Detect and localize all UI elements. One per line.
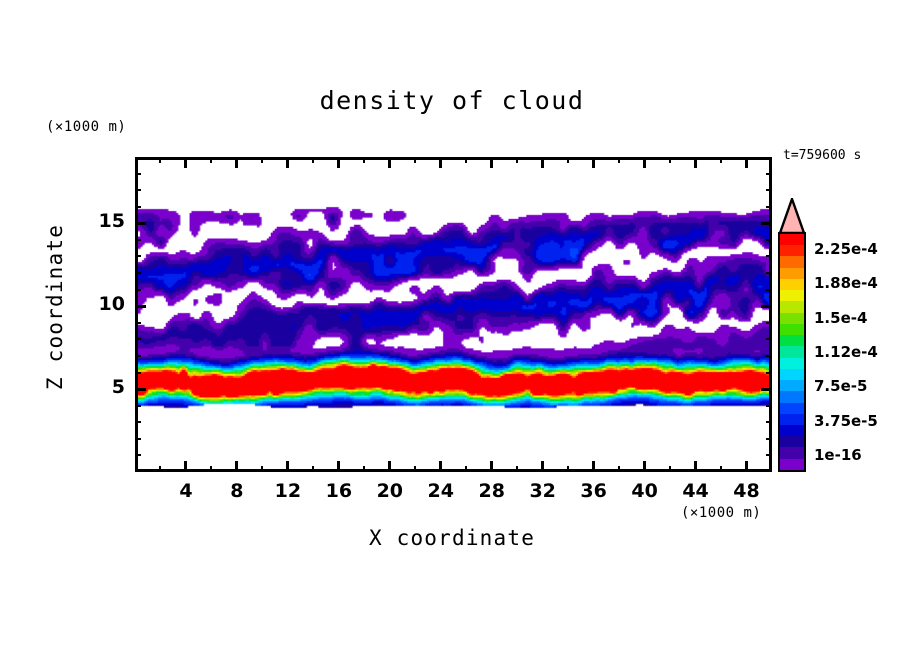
- y-minor-tick: [135, 405, 141, 407]
- x-major-tick-top: [541, 157, 544, 168]
- x-tick-label: 24: [421, 480, 461, 502]
- colorbar-band: [780, 358, 804, 369]
- x-tick-label: 20: [370, 480, 410, 502]
- x-tick-label: 12: [268, 480, 308, 502]
- colorbar-band: [780, 256, 804, 267]
- x-minor-tick: [210, 466, 212, 472]
- x-major-tick-top: [643, 157, 646, 168]
- figure-canvas: density of cloud (×1000 m) t=759600 s 48…: [0, 0, 904, 654]
- colorbar-band: [780, 324, 804, 335]
- x-minor-tick-top: [159, 157, 161, 163]
- y-minor-tick: [135, 355, 141, 357]
- y-minor-tick: [135, 239, 141, 241]
- y-tick-label: 10: [85, 293, 125, 315]
- y-minor-tick-right: [766, 454, 772, 456]
- x-tick-label: 8: [217, 480, 257, 502]
- y-minor-tick-right: [766, 405, 772, 407]
- colorbar-tick-label: 1.88e-4: [814, 274, 878, 292]
- x-minor-tick-top: [567, 157, 569, 163]
- y-axis-label: Z coordinate: [43, 207, 67, 407]
- x-major-tick-top: [235, 157, 238, 168]
- y-major-tick-right: [761, 222, 772, 225]
- x-minor-tick: [669, 466, 671, 472]
- colorbar-band: [780, 369, 804, 380]
- y-minor-tick-right: [766, 372, 772, 374]
- x-minor-tick: [414, 466, 416, 472]
- y-major-tick: [135, 222, 146, 225]
- x-tick-label: 44: [676, 480, 716, 502]
- x-major-tick-top: [439, 157, 442, 168]
- x-major-tick: [541, 461, 544, 472]
- x-minor-tick-top: [516, 157, 518, 163]
- colorbar-band: [780, 279, 804, 290]
- x-major-tick-top: [388, 157, 391, 168]
- x-minor-tick-top: [720, 157, 722, 163]
- x-minor-tick-top: [414, 157, 416, 163]
- y-major-tick: [135, 388, 146, 391]
- colorbar-band: [780, 414, 804, 425]
- colorbar-tick-label: 1e-16: [814, 446, 862, 464]
- x-major-tick: [694, 461, 697, 472]
- colorbar-extend-arrow: [778, 198, 806, 234]
- x-minor-tick: [618, 466, 620, 472]
- x-minor-tick: [363, 466, 365, 472]
- y-major-tick-right: [761, 305, 772, 308]
- y-minor-tick-right: [766, 421, 772, 423]
- y-minor-tick-right: [766, 255, 772, 257]
- x-axis-unit-label: (×1000 m): [681, 505, 761, 521]
- y-minor-tick: [135, 206, 141, 208]
- colorbar-bands: [778, 232, 806, 472]
- y-minor-tick-right: [766, 338, 772, 340]
- x-minor-tick-top: [669, 157, 671, 163]
- y-minor-tick: [135, 338, 141, 340]
- chart-title: density of cloud: [0, 86, 904, 115]
- x-minor-tick: [159, 466, 161, 472]
- x-major-tick: [745, 461, 748, 472]
- y-minor-tick-right: [766, 355, 772, 357]
- z-axis-unit-label: (×1000 m): [46, 119, 126, 135]
- x-minor-tick-top: [618, 157, 620, 163]
- x-major-tick-top: [184, 157, 187, 168]
- x-tick-label: 28: [472, 480, 512, 502]
- colorbar-band: [780, 447, 804, 458]
- colorbar-tick-label: 1.5e-4: [814, 309, 867, 327]
- y-minor-tick-right: [766, 239, 772, 241]
- colorbar-band: [780, 380, 804, 391]
- y-minor-tick-right: [766, 189, 772, 191]
- x-minor-tick: [312, 466, 314, 472]
- y-minor-tick: [135, 272, 141, 274]
- colorbar-band: [780, 403, 804, 414]
- x-minor-tick-top: [465, 157, 467, 163]
- y-minor-tick: [135, 189, 141, 191]
- x-major-tick: [490, 461, 493, 472]
- x-minor-tick: [516, 466, 518, 472]
- colorbar-band: [780, 268, 804, 279]
- colorbar-band: [780, 290, 804, 301]
- x-tick-label: 36: [574, 480, 614, 502]
- plot-area: [135, 157, 772, 472]
- colorbar-band: [780, 301, 804, 312]
- time-annotation: t=759600 s: [783, 148, 861, 163]
- x-axis-label: X coordinate: [0, 526, 904, 550]
- y-minor-tick-right: [766, 272, 772, 274]
- x-major-tick-top: [490, 157, 493, 168]
- colorbar-band: [780, 346, 804, 357]
- x-minor-tick: [567, 466, 569, 472]
- colorbar-tick-label: 7.5e-5: [814, 377, 867, 395]
- colorbar-tick-label: 1.12e-4: [814, 343, 878, 361]
- y-minor-tick: [135, 421, 141, 423]
- colorbar-tick-label: 2.25e-4: [814, 240, 878, 258]
- y-tick-label: 15: [85, 210, 125, 232]
- x-tick-label: 4: [166, 480, 206, 502]
- x-tick-label: 32: [523, 480, 563, 502]
- colorbar-band: [780, 335, 804, 346]
- y-minor-tick-right: [766, 438, 772, 440]
- x-minor-tick: [261, 466, 263, 472]
- y-minor-tick-right: [766, 206, 772, 208]
- x-minor-tick-top: [363, 157, 365, 163]
- contour-field: [138, 160, 769, 469]
- colorbar-band: [780, 425, 804, 436]
- y-minor-tick: [135, 322, 141, 324]
- y-minor-tick: [135, 173, 141, 175]
- x-tick-label: 48: [727, 480, 767, 502]
- colorbar-band: [780, 436, 804, 447]
- y-tick-label: 5: [85, 376, 125, 398]
- x-minor-tick-top: [210, 157, 212, 163]
- y-minor-tick-right: [766, 173, 772, 175]
- x-minor-tick: [465, 466, 467, 472]
- x-major-tick-top: [592, 157, 595, 168]
- colorbar-tick-label: 3.75e-5: [814, 412, 878, 430]
- x-major-tick: [439, 461, 442, 472]
- y-minor-tick: [135, 255, 141, 257]
- x-major-tick-top: [286, 157, 289, 168]
- colorbar: 2.25e-41.88e-41.5e-41.12e-47.5e-53.75e-5…: [776, 198, 896, 476]
- x-tick-label: 16: [319, 480, 359, 502]
- colorbar-band: [780, 391, 804, 402]
- x-major-tick-top: [745, 157, 748, 168]
- x-major-tick: [388, 461, 391, 472]
- x-major-tick: [337, 461, 340, 472]
- y-major-tick: [135, 305, 146, 308]
- x-major-tick: [286, 461, 289, 472]
- x-major-tick-top: [694, 157, 697, 168]
- y-minor-tick: [135, 372, 141, 374]
- x-minor-tick-top: [312, 157, 314, 163]
- x-major-tick: [184, 461, 187, 472]
- colorbar-band: [780, 245, 804, 256]
- colorbar-band: [780, 234, 804, 245]
- x-major-tick: [592, 461, 595, 472]
- x-minor-tick-top: [261, 157, 263, 163]
- y-major-tick-right: [761, 388, 772, 391]
- y-minor-tick-right: [766, 289, 772, 291]
- x-major-tick: [643, 461, 646, 472]
- y-minor-tick: [135, 289, 141, 291]
- x-major-tick-top: [337, 157, 340, 168]
- y-minor-tick: [135, 454, 141, 456]
- colorbar-band: [780, 313, 804, 324]
- y-minor-tick-right: [766, 322, 772, 324]
- x-tick-label: 40: [625, 480, 665, 502]
- x-minor-tick: [720, 466, 722, 472]
- x-major-tick: [235, 461, 238, 472]
- y-minor-tick: [135, 438, 141, 440]
- colorbar-band: [780, 459, 804, 470]
